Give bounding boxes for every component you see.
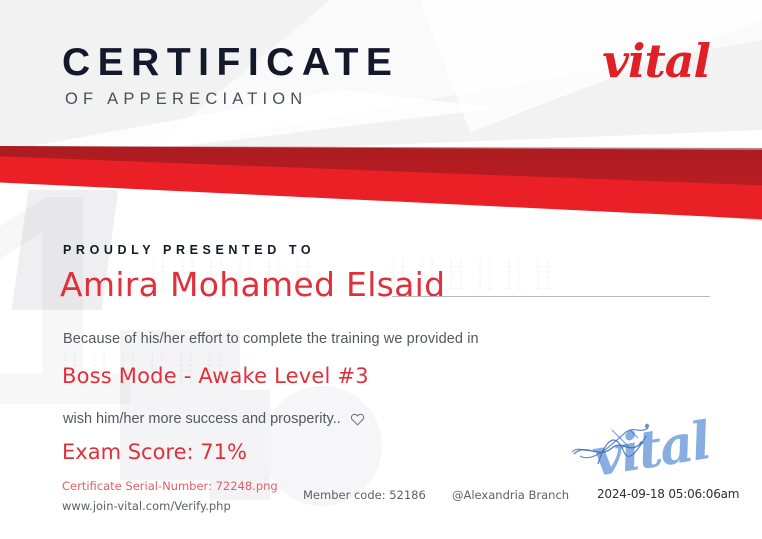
exam-score: Exam Score: 71%	[62, 440, 247, 464]
signature-stamp: vital	[568, 412, 728, 492]
title-block: CERTIFICATE OF APPERECIATION	[62, 42, 399, 110]
recipient-name: Amira Mohamed Elsaid	[60, 266, 445, 304]
certificate-subtitle: OF APPERECIATION	[65, 88, 399, 110]
presented-to-label: PROUDLY PRESENTED TO	[63, 243, 315, 257]
certificate-serial-number: Certificate Serial-Number: 72248.png	[62, 479, 278, 493]
vital-brand-logo: vital	[602, 36, 710, 86]
heart-icon	[350, 412, 365, 427]
reason-text: Because of his/her effort to complete th…	[63, 331, 479, 347]
wish-text: wish him/her more success and prosperity…	[63, 411, 341, 427]
wish-line: wish him/her more success and prosperity…	[63, 411, 365, 427]
handwritten-signature-icon	[568, 412, 728, 492]
recipient-name-underline	[392, 296, 710, 297]
branch-name: @Alexandria Branch	[452, 488, 569, 502]
course-name: Boss Mode - Awake Level #3	[62, 364, 369, 388]
certificate-document: 1 11 11 11 11 11 11 11 11 11 11 11 11 11…	[0, 0, 762, 539]
member-code: Member code: 52186	[303, 488, 426, 502]
issue-date: 2024-09-18 05:06:06am	[597, 487, 739, 501]
certificate-title: CERTIFICATE	[62, 42, 399, 84]
verify-url[interactable]: www.join-vital.com/Verify.php	[62, 499, 231, 513]
